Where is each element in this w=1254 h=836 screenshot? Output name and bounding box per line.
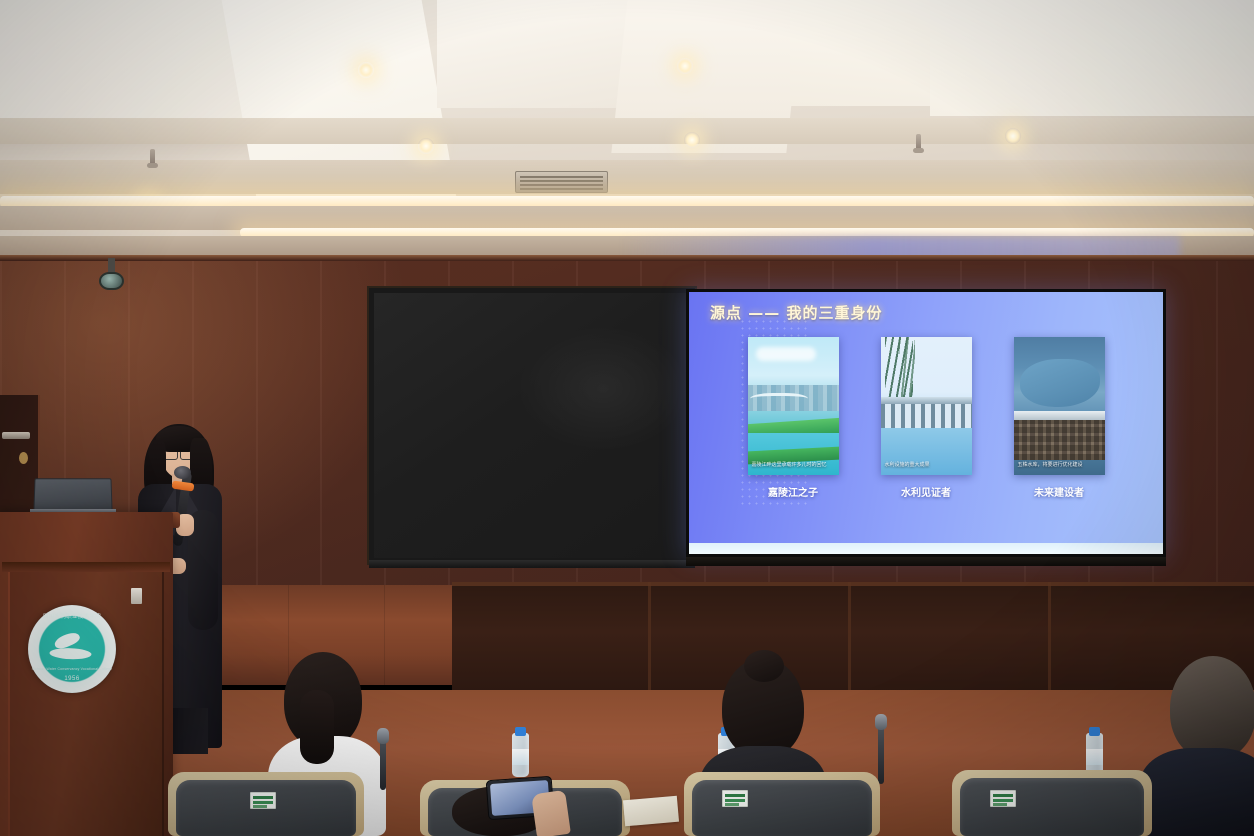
- aerial-reservoir-photo: 五株水库，将要进行优化建设: [1014, 337, 1105, 475]
- microphone-head-icon: [875, 714, 887, 730]
- dam-crest-shape: [1014, 411, 1105, 420]
- partition-seam: [648, 582, 651, 700]
- ponytail-shape: [300, 690, 334, 764]
- institution-emblem: 四川水利职业技术学院 Sichuan Water Conservancy Voc…: [28, 605, 116, 693]
- slide-card: 嘉陵江畔这里承载许多儿时的回忆 嘉陵江之子: [748, 337, 839, 517]
- emblem-en-text: Sichuan Water Conservancy Vocational Col…: [28, 667, 116, 671]
- downlight-icon: [677, 58, 693, 74]
- photo-caption: 嘉陵江畔这里承载许多儿时的回忆: [752, 462, 835, 470]
- handout-paper[interactable]: [623, 796, 679, 827]
- screen-bottom-shadow: [686, 557, 1166, 566]
- slide-bottom-strip: [689, 543, 1163, 554]
- dam-piers-shape: [881, 404, 972, 428]
- cloud-shape: [756, 347, 816, 361]
- door-lock-icon: [19, 452, 28, 464]
- chair-label: [722, 790, 748, 807]
- podium-molding: [2, 562, 170, 572]
- chair-back[interactable]: [960, 778, 1144, 836]
- chair-label: [250, 792, 276, 809]
- ceiling-panel: [930, 0, 1254, 116]
- ceiling-band: [0, 118, 1254, 144]
- slide-card-label: 水利见证者: [901, 484, 951, 499]
- lake-shape: [1020, 359, 1100, 407]
- emblem-year: 1956: [28, 676, 116, 682]
- slide-title: 源点 —— 我的三重身份: [710, 302, 882, 323]
- table-microphone: [878, 726, 884, 784]
- water-bottle: [512, 733, 529, 777]
- presentation-slide: 源点 —— 我的三重身份 嘉陵江畔这里承载许多儿时的回忆 嘉陵江之子: [689, 292, 1163, 554]
- slide-card-label: 嘉陵江之子: [768, 484, 818, 499]
- audience-body: [1140, 748, 1254, 836]
- blackboard-glare: [516, 325, 690, 452]
- projection-screen: 源点 —— 我的三重身份 嘉陵江畔这里承载许多儿时的回忆 嘉陵江之子: [686, 289, 1166, 557]
- downlight-icon: [1005, 128, 1021, 144]
- photo-caption: 水利设施的重大成果: [885, 462, 968, 470]
- door-handle-icon[interactable]: [2, 432, 30, 439]
- partition-seam: [1048, 582, 1051, 700]
- bridge-shape: [750, 393, 808, 407]
- bottle-cap: [515, 727, 526, 736]
- downlight-icon: [418, 138, 434, 154]
- dam-blocks-shape: [1014, 420, 1105, 460]
- sprinkler-icon: [916, 134, 921, 150]
- presenter-laptop[interactable]: [30, 478, 114, 514]
- spotlight-icon: [99, 272, 124, 290]
- emblem-bird-icon: [47, 630, 96, 669]
- photo-caption: 五株水库，将要进行优化建设: [1018, 462, 1101, 470]
- laptop-screen: [33, 478, 112, 510]
- ceiling-band: [0, 160, 1254, 194]
- downlight-icon: [684, 132, 700, 148]
- riverside-city-photo: 嘉陵江畔这里承载许多儿时的回忆: [748, 337, 839, 475]
- dam-sluice-photo: 水利设施的重大成果: [881, 337, 972, 475]
- audience-head: [1170, 656, 1254, 760]
- hand-shape: [531, 790, 571, 836]
- emblem-cn-text: 四川水利职业技术学院: [28, 612, 116, 620]
- bottle-label: [1086, 749, 1103, 765]
- slide-card-label: 未来建设者: [1034, 484, 1084, 499]
- microphone-head-icon: [377, 728, 389, 744]
- ceiling-strip: [0, 206, 1254, 230]
- blackboard: [369, 288, 695, 563]
- downlight-icon: [358, 62, 374, 78]
- chair-back[interactable]: [692, 780, 872, 836]
- slide-card-row: 嘉陵江畔这里承载许多儿时的回忆 嘉陵江之子 水利设施的重大成果 水利见证者: [689, 337, 1163, 517]
- presentation-scene: 源点 —— 我的三重身份 嘉陵江畔这里承载许多儿时的回忆 嘉陵江之子: [0, 0, 1254, 836]
- bottle-label: [512, 749, 529, 765]
- dam-deck-shape: [881, 397, 972, 404]
- blackboard-tray: [369, 560, 695, 568]
- podium-switch-icon[interactable]: [131, 588, 142, 604]
- hair-bun-shape: [744, 650, 784, 682]
- wooden-partition: [452, 582, 1254, 700]
- table-microphone: [380, 738, 386, 790]
- chair-label: [990, 790, 1016, 807]
- sprinkler-icon: [150, 149, 155, 165]
- bottle-cap: [1089, 727, 1100, 736]
- air-vent-icon: [515, 171, 608, 193]
- slide-card: 五株水库，将要进行优化建设 未来建设者: [1014, 337, 1105, 517]
- partition-seam: [848, 582, 851, 700]
- microphone-head-icon: [174, 466, 191, 479]
- slide-card: 水利设施的重大成果 水利见证者: [881, 337, 972, 517]
- wall-top-edge: [0, 255, 1254, 261]
